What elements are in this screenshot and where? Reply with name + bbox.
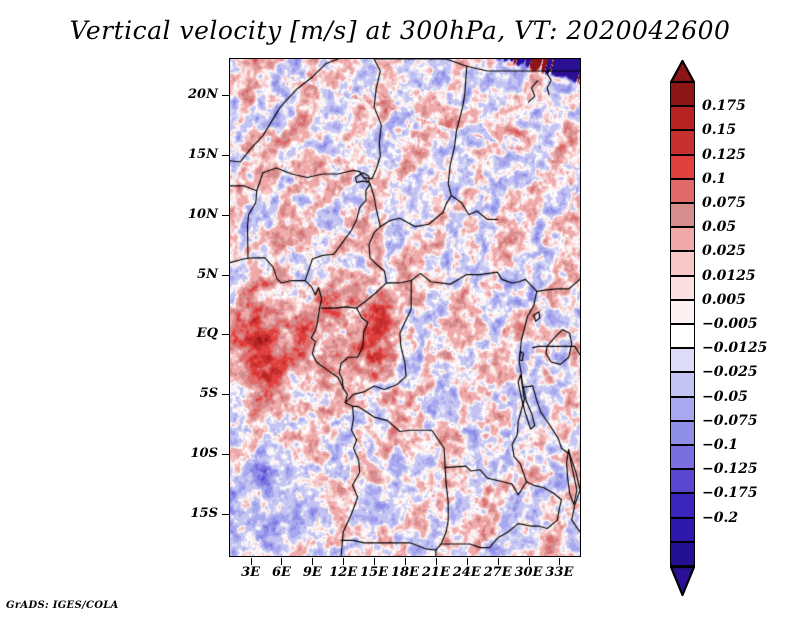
colorbar-tick-label: −0.0125 (702, 340, 767, 356)
colorbar-tick-label: −0.005 (702, 316, 758, 332)
footer-credit: GrADS: IGES/COLA (6, 600, 119, 611)
page-title: Vertical velocity [m/s] at 300hPa, VT: 2… (0, 16, 800, 45)
y-axis-label: 5S (180, 387, 218, 400)
colorbar-tick-label: 0.025 (702, 243, 746, 259)
map-plot-area (229, 58, 581, 557)
colorbar-cell (670, 348, 695, 372)
colorbar-cell (670, 445, 695, 469)
y-tick (222, 95, 229, 96)
colorbar-cell (670, 155, 695, 179)
colorbar-tick-label: 0.0125 (702, 268, 756, 284)
colorbar-tick-label: 0.1 (702, 171, 726, 187)
y-tick (222, 275, 229, 276)
x-tick (374, 558, 375, 565)
x-tick (498, 558, 499, 565)
colorbar-cell (670, 421, 695, 445)
x-tick (436, 558, 437, 565)
x-tick (405, 558, 406, 565)
x-tick (559, 558, 560, 565)
y-axis-label: 10S (180, 447, 218, 460)
y-axis-label: EQ (180, 327, 218, 340)
colorbar-tick-label: 0.15 (702, 122, 736, 138)
x-tick (312, 558, 313, 565)
y-tick (222, 394, 229, 395)
colorbar-cell (670, 276, 695, 300)
colorbar-cell (670, 82, 695, 106)
colorbar-tick-label: −0.2 (702, 510, 738, 526)
y-axis-label: 15S (180, 507, 218, 520)
y-axis-label: 5N (180, 268, 218, 281)
y-tick (222, 514, 229, 515)
x-tick (251, 558, 252, 565)
colorbar-cell (670, 469, 695, 493)
y-tick (222, 215, 229, 216)
colorbar-cell (670, 251, 695, 275)
colorbar-cell (670, 397, 695, 421)
colorbar-tick-label: 0.075 (702, 195, 746, 211)
colorbar-tick-label: 0.175 (702, 98, 746, 114)
x-tick (343, 558, 344, 565)
y-axis-label: 10N (180, 208, 218, 221)
colorbar-tick-label: −0.125 (702, 461, 758, 477)
colorbar-cell (670, 300, 695, 324)
colorbar-tick-label: −0.175 (702, 485, 758, 501)
colorbar-cell (670, 227, 695, 251)
y-tick (222, 454, 229, 455)
y-tick (222, 155, 229, 156)
country-borders-overlay (230, 59, 580, 556)
y-axis-label: 20N (180, 88, 218, 101)
colorbar-tick-label: 0.05 (702, 219, 736, 235)
x-axis-label: 33E (539, 565, 579, 580)
colorbar-cell (670, 518, 695, 542)
y-tick (222, 334, 229, 335)
colorbar-tick-label: −0.1 (702, 437, 738, 453)
x-tick (467, 558, 468, 565)
colorbar-cell (670, 493, 695, 517)
colorbar-cell (670, 130, 695, 154)
x-tick (281, 558, 282, 565)
colorbar-cell (670, 179, 695, 203)
colorbar-cell (670, 324, 695, 348)
colorbar-tick-label: −0.075 (702, 413, 758, 429)
colorbar-cell (670, 542, 695, 566)
colorbar-under-arrow (670, 566, 695, 596)
colorbar-cell (670, 106, 695, 130)
colorbar-cell (670, 372, 695, 396)
colorbar-cell (670, 203, 695, 227)
x-tick (529, 558, 530, 565)
colorbar-tick-label: −0.05 (702, 389, 748, 405)
colorbar-tick-label: 0.125 (702, 147, 746, 163)
colorbar-tick-label: 0.005 (702, 292, 746, 308)
colorbar-tick-label: −0.025 (702, 364, 758, 380)
colorbar-over-arrow-outline (670, 60, 695, 82)
y-axis-label: 15N (180, 148, 218, 161)
